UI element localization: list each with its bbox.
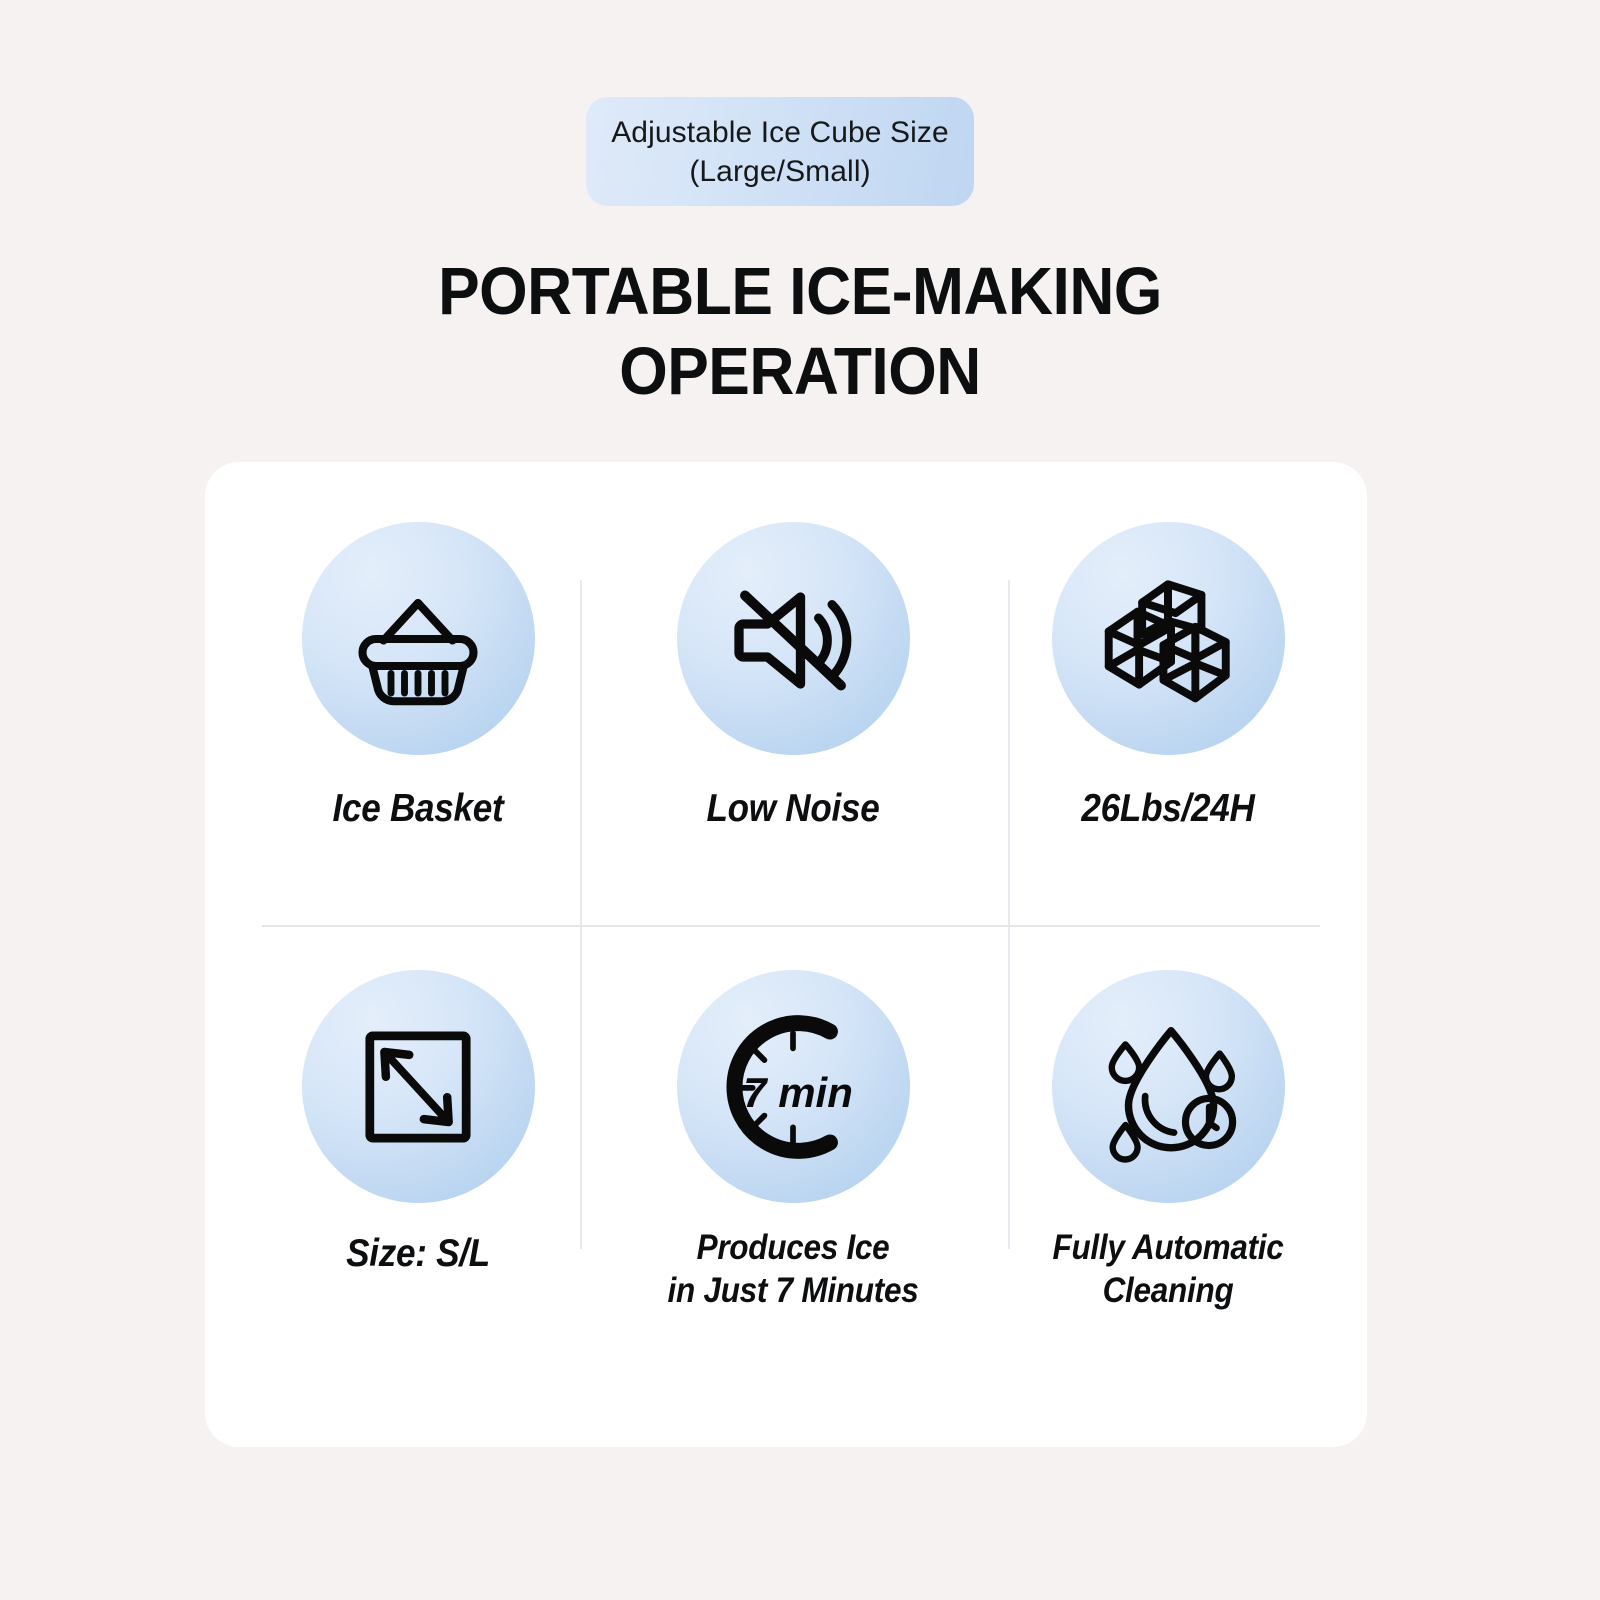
feature-ice-output: 26Lbs/24H	[975, 522, 1361, 831]
feature-card: Ice Basket Low Noise	[205, 462, 1367, 1447]
feature-ice-basket: Ice Basket	[225, 522, 611, 831]
divider-horizontal	[262, 925, 1320, 927]
feature-low-noise: Low Noise	[600, 522, 986, 831]
resize-square-icon	[302, 970, 535, 1203]
feature-label-line-1: Ice Basket	[333, 787, 504, 830]
feature-label-line-1: 26Lbs/24H	[1081, 787, 1254, 830]
title-line-2: OPERATION	[619, 334, 981, 409]
feature-label-line-1: Produces Ice	[697, 1228, 890, 1267]
feature-label: Produces Ice in Just 7 Minutes	[619, 1227, 966, 1312]
feature-label-line-1: Low Noise	[706, 787, 879, 830]
ice-cubes-icon	[1052, 522, 1285, 755]
feature-label: Low Noise	[619, 786, 966, 831]
page-title: PORTABLE ICE-MAKING OPERATION	[56, 252, 1544, 411]
water-drop-clock-icon	[1052, 970, 1285, 1203]
feature-label-line-1: Fully Automatic	[1052, 1228, 1283, 1267]
title-line-1: PORTABLE ICE-MAKING	[438, 254, 1162, 329]
mute-speaker-icon	[677, 522, 910, 755]
clock-7min-icon: 7 min	[677, 970, 910, 1203]
feature-fast-ice: 7 min Produces Ice in Just 7 Minutes	[600, 970, 986, 1312]
clock-label: 7 min	[743, 1069, 853, 1116]
badge-line-2: (Large/Small)	[689, 155, 870, 188]
feature-label: Size: S/L	[244, 1231, 591, 1276]
feature-label: Ice Basket	[244, 786, 591, 831]
badge-line-1: Adjustable Ice Cube Size	[611, 116, 949, 149]
feature-label: 26Lbs/24H	[994, 786, 1341, 831]
feature-label-line-1: Size: S/L	[346, 1232, 490, 1275]
adjustable-size-badge: Adjustable Ice Cube Size (Large/Small)	[586, 97, 974, 206]
feature-auto-cleaning: Fully Automatic Cleaning	[975, 970, 1361, 1312]
infographic-page: Adjustable Ice Cube Size (Large/Small) P…	[0, 0, 1600, 1600]
feature-label-line-2: in Just 7 Minutes	[668, 1271, 919, 1310]
badge-text: Adjustable Ice Cube Size (Large/Small)	[611, 113, 949, 191]
feature-label-line-2: Cleaning	[1103, 1271, 1234, 1310]
feature-cube-size: Size: S/L	[225, 970, 611, 1276]
ice-basket-icon	[302, 522, 535, 755]
feature-label: Fully Automatic Cleaning	[994, 1227, 1341, 1312]
